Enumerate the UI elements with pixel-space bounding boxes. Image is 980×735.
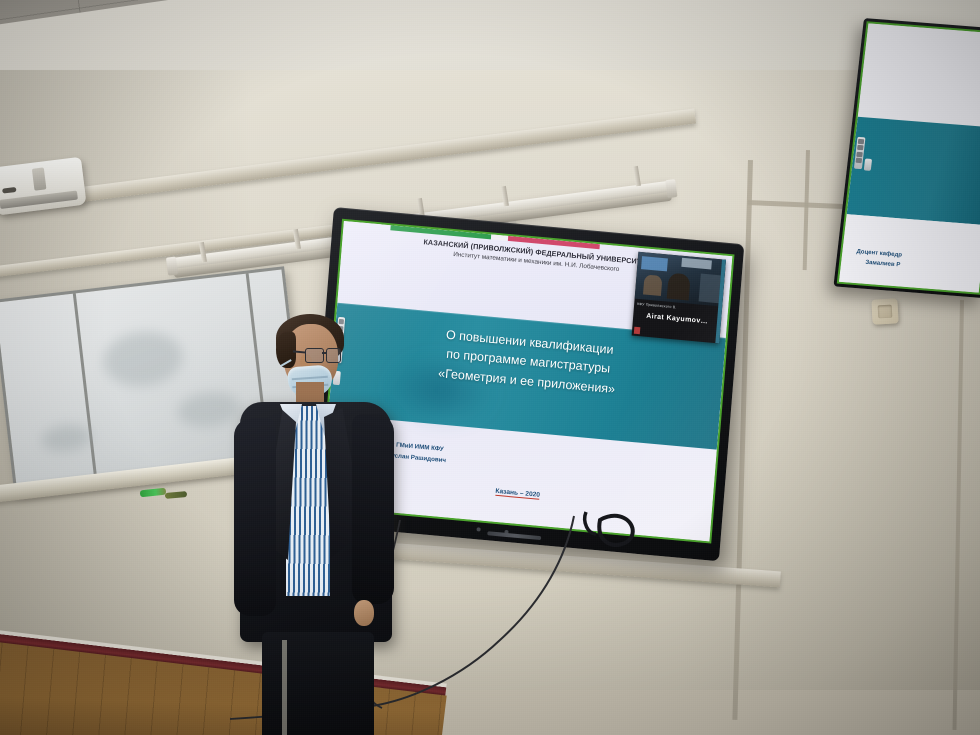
secondary-shape-icon[interactable]: [856, 152, 863, 157]
ir-sensor-left: [476, 527, 480, 531]
eyeglass-bridge: [322, 352, 327, 354]
secondary-slide-top: [858, 23, 980, 127]
video-participant-name: Airat Kayumov…: [633, 312, 721, 327]
mask-pleat-1: [292, 376, 328, 380]
secondary-pen-icon[interactable]: [858, 139, 865, 144]
flag-stripe-white: [491, 234, 508, 241]
secondary-highlighter-icon[interactable]: [857, 145, 864, 150]
feed-shape-person-a: [643, 274, 663, 296]
hand: [354, 600, 374, 626]
ac-display-panel: [32, 167, 47, 190]
ac-vent: [0, 191, 78, 209]
secondary-slide-band: [847, 116, 980, 225]
city-year-text: Казань – 2020: [495, 488, 540, 500]
whiteboard-smudge-3: [40, 423, 93, 455]
whiteboard-divider-1: [73, 293, 98, 482]
feed-shape-screen: [641, 256, 668, 271]
ir-sensor-right: [504, 530, 508, 534]
blazer-sleeve-right: [352, 414, 394, 604]
secondary-color-icon[interactable]: [856, 158, 863, 163]
secondary-eraser-tool[interactable]: [864, 159, 872, 171]
photo-scene: КАЗАНСКИЙ (ПРИВОЛЖСКИЙ) ФЕДЕРАЛЬНЫЙ УНИВ…: [0, 0, 980, 735]
secondary-screen[interactable]: Доцент кафедр Замалиев Р: [839, 23, 980, 292]
secondary-slide-footer: Доцент кафедр Замалиев Р: [855, 247, 903, 271]
webcam-feed: [635, 252, 726, 307]
eyeglass-lens-right: [326, 348, 341, 363]
trouser-leg-gap: [282, 640, 287, 735]
trousers: [262, 632, 374, 735]
whiteboard-smudge-1: [100, 328, 186, 391]
video-call-tile[interactable]: КФУ Приволжского В. Airat Kayumov…: [632, 252, 726, 344]
video-sublabel: КФУ Приволжского В.: [637, 302, 677, 310]
blazer-sleeve-left: [234, 418, 276, 616]
feed-shape-wall: [681, 258, 712, 270]
presenter: [228, 318, 408, 735]
eyeglass-lens-left: [305, 348, 324, 363]
ac-logo: [2, 187, 17, 194]
feed-shape-furniture: [699, 274, 721, 304]
wall-socket[interactable]: [871, 298, 898, 324]
mic-muted-icon[interactable]: [634, 327, 641, 335]
feed-shape-person-b: [667, 273, 691, 301]
eyeglasses: [305, 348, 343, 362]
